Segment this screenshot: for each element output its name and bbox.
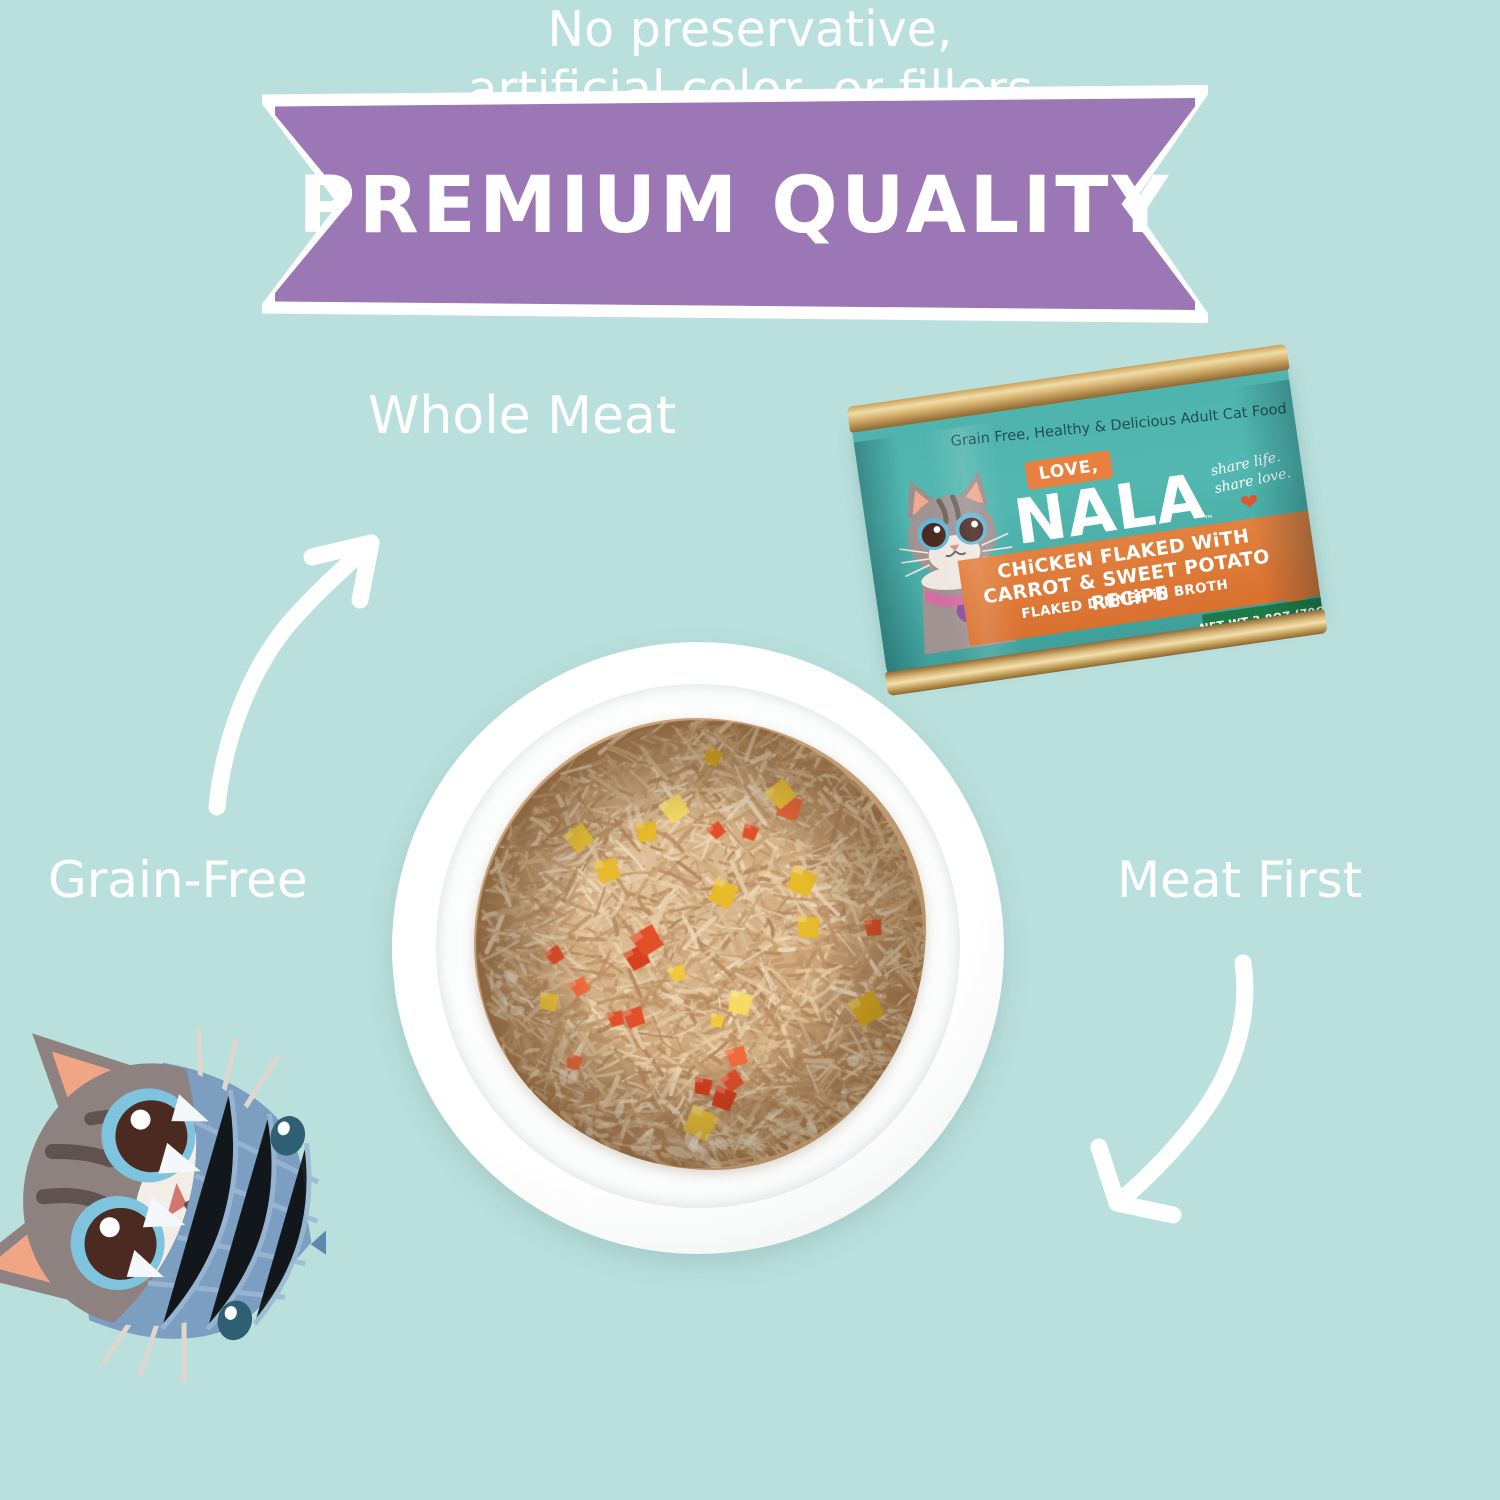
product-can: Grain Free, Healthy & Delicious Adult Ca… [855, 360, 1325, 690]
premium-quality-banner: PREMIUM QUALITY [275, 98, 1195, 310]
curved-arrow-up-right-icon [175, 495, 405, 825]
feature-label-whole-meat: Whole Meat [368, 386, 676, 446]
heart-icon: ❤ [1239, 491, 1264, 514]
banner-label: PREMIUM QUALITY [275, 100, 1195, 312]
can-share-tagline: share life. share love. [1209, 441, 1323, 498]
cat-mascot-icon [0, 985, 326, 1405]
feature-label-grain-free: Grain-Free [48, 851, 308, 909]
food-plate [392, 642, 1004, 1254]
bottom-note-line1: No preservative, [0, 0, 1500, 60]
can-rotated-group: Grain Free, Healthy & Delicious Adult Ca… [849, 344, 1326, 694]
feature-label-meat-first: Meat First [1117, 851, 1362, 909]
product-feature-graphic: PREMIUM QUALITY Whole Meat Grain-Free Me… [0, 0, 1500, 1500]
shredded-chicken-food [474, 718, 926, 1170]
curved-arrow-down-left-icon [1055, 925, 1305, 1225]
